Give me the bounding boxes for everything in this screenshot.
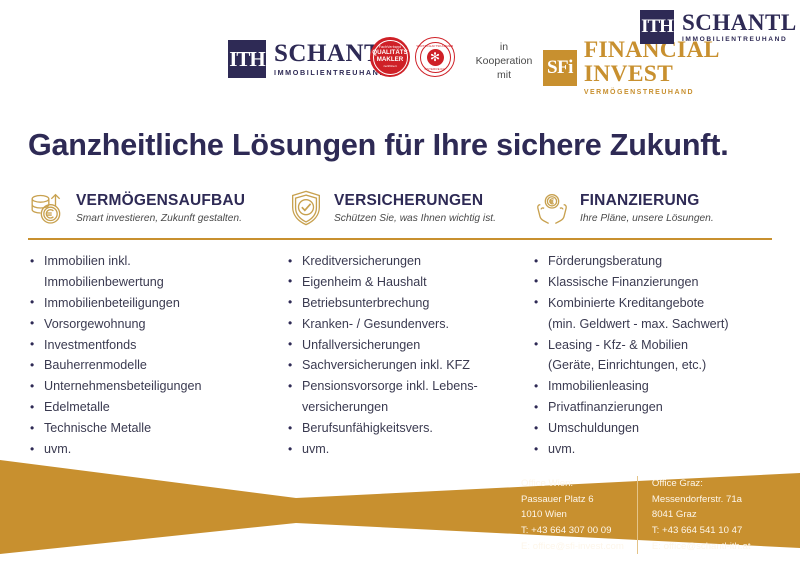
column-vermoegensaufbau: VERMÖGENSAUFBAU Smart investieren, Zukun… — [28, 186, 286, 461]
list-item: Eigenheim & Haushalt — [286, 273, 532, 293]
hands-holding-coin-icon — [532, 188, 572, 228]
list-item: versicherungen — [286, 398, 532, 418]
office-wien-street: Passauer Platz 6 — [521, 492, 624, 508]
wko-seal-icon: WIRTSCHAFTSKAMMER ✻ ÖSTERREICH — [415, 37, 455, 77]
list-item: Pensionsvorsorge inkl. Lebens- — [286, 377, 532, 397]
list-item: Leasing - Kfz- & Mobilien — [532, 336, 772, 356]
list-item: Immobilienleasing — [532, 377, 772, 397]
coins-euro-growth-icon — [28, 188, 68, 228]
list-item: Förderungsberatung — [532, 252, 772, 272]
logo-ith-schantl-right: ITH SCHANTL IMMOBILIENTREUHAND — [640, 10, 797, 44]
office-wien-label: Office Wien: — [521, 476, 624, 492]
cooperation-line-1: in — [473, 40, 535, 54]
service-list: Kreditversicherungen Eigenheim & Haushal… — [286, 252, 532, 460]
list-item: Klassische Finanzierungen — [532, 273, 772, 293]
shield-check-icon — [286, 188, 326, 228]
column-title: VERSICHERUNGEN — [334, 192, 496, 209]
list-item: Berufsunfähigkeitsvers. — [286, 419, 532, 439]
list-item: Edelmetalle — [28, 398, 286, 418]
logo-bar: ITH SCHANTL IMMOBILIENTREUHAND FachVerba… — [0, 0, 800, 112]
list-item: Immobilienbeteiligungen — [28, 294, 286, 314]
poster-page: ITH SCHANTL IMMOBILIENTREUHAND FachVerba… — [0, 0, 800, 564]
ith-monogram-icon-right: ITH — [640, 10, 674, 44]
column-header: VERMÖGENSAUFBAU Smart investieren, Zukun… — [28, 186, 286, 230]
list-item: Immobilien inkl. — [28, 252, 286, 272]
wko-seal-bottom-text: ÖSTERREICH — [416, 67, 454, 71]
list-item: Betriebsunterbrechung — [286, 294, 532, 314]
sfi-brand-subtitle: VERMÖGENSTREUHAND — [584, 89, 800, 96]
wko-seal-top-text: WIRTSCHAFTSKAMMER — [416, 44, 454, 48]
sfi-brand-name: FINANCIAL INVEST — [584, 39, 800, 86]
cooperation-line-2: Kooperation — [473, 54, 535, 68]
logo-sfi-financial-invest: SFi FINANCIAL INVEST VERMÖGENSTREUHAND — [543, 39, 800, 96]
qualitaetsmakler-seal-icon: FachVerband QUALITÄTS MAKLER zertifizier… — [370, 37, 410, 77]
office-wien-email[interactable]: E: office@sfi-invest.com — [521, 539, 624, 555]
list-item: Kreditversicherungen — [286, 252, 532, 272]
list-item: Unfallversicherungen — [286, 336, 532, 356]
ith-brand-subtitle-right: IMMOBILIENTREUHAND — [682, 37, 797, 44]
office-graz-street: Messendorferstr. 71a — [652, 492, 751, 508]
list-item: Kombinierte Kreditangebote — [532, 294, 772, 314]
ith-brand-name-right: SCHANTL — [682, 11, 797, 34]
office-graz-label: Office Graz: — [652, 476, 751, 492]
contact-office-wien: Office Wien: Passauer Platz 6 1010 Wien … — [521, 476, 624, 554]
column-finanzierung: FINANZIERUNG Ihre Pläne, unsere Lösungen… — [532, 186, 772, 461]
column-versicherungen: VERSICHERUNGEN Schützen Sie, was Ihnen w… — [286, 186, 532, 461]
column-tagline: Schützen Sie, was Ihnen wichtig ist. — [334, 213, 496, 224]
column-tagline: Smart investieren, Zukunft gestalten. — [76, 213, 245, 224]
page-title: Ganzheitliche Lösungen für Ihre sichere … — [28, 128, 728, 163]
office-graz-city: 8041 Graz — [652, 507, 751, 523]
list-item: Sachversicherungen inkl. KFZ — [286, 356, 532, 376]
column-tagline: Ihre Pläne, unsere Lösungen. — [580, 213, 714, 224]
office-graz-email[interactable]: E: office@schantl-ith.at — [652, 539, 751, 555]
cooperation-line-3: mit — [473, 68, 535, 82]
service-list: Förderungsberatung Klassische Finanzieru… — [532, 252, 772, 460]
footer-ribbon: Office Wien: Passauer Platz 6 1010 Wien … — [0, 440, 800, 564]
sfi-monogram-icon: SFi — [543, 50, 577, 86]
ith-monogram-icon: ITH — [228, 40, 266, 78]
office-graz-phone[interactable]: T: +43 664 541 10 47 — [652, 523, 751, 539]
list-item: Umschuldungen — [532, 419, 772, 439]
list-item: Unternehmensbeteiligungen — [28, 377, 286, 397]
list-item: Bauherrenmodelle — [28, 356, 286, 376]
list-item: Investmentfonds — [28, 336, 286, 356]
contact-office-graz: Office Graz: Messendorferstr. 71a 8041 G… — [637, 476, 751, 554]
column-title: VERMÖGENSAUFBAU — [76, 192, 245, 209]
list-item: Immobilienbewertung — [28, 273, 286, 293]
list-item: Vorsorgewohnung — [28, 315, 286, 335]
column-header: FINANZIERUNG Ihre Pläne, unsere Lösungen… — [532, 186, 772, 230]
cooperation-note: in Kooperation mit — [473, 40, 535, 83]
list-item: Kranken- / Gesundenvers. — [286, 315, 532, 335]
list-item: (Geräte, Einrichtungen, etc.) — [532, 356, 772, 376]
contact-blocks: Office Wien: Passauer Platz 6 1010 Wien … — [521, 476, 751, 554]
list-item: Privatfinanzierungen — [532, 398, 772, 418]
office-wien-city: 1010 Wien — [521, 507, 624, 523]
service-list: Immobilien inkl. Immobilienbewertung Imm… — [28, 252, 286, 460]
office-wien-phone[interactable]: T: +43 664 307 00 09 — [521, 523, 624, 539]
list-item: Technische Metalle — [28, 419, 286, 439]
list-item: (min. Geldwert - max. Sachwert) — [532, 315, 772, 335]
service-columns: VERMÖGENSAUFBAU Smart investieren, Zukun… — [28, 186, 772, 461]
column-title: FINANZIERUNG — [580, 192, 714, 209]
column-header: VERSICHERUNGEN Schützen Sie, was Ihnen w… — [286, 186, 532, 230]
seal-ring — [373, 40, 408, 75]
